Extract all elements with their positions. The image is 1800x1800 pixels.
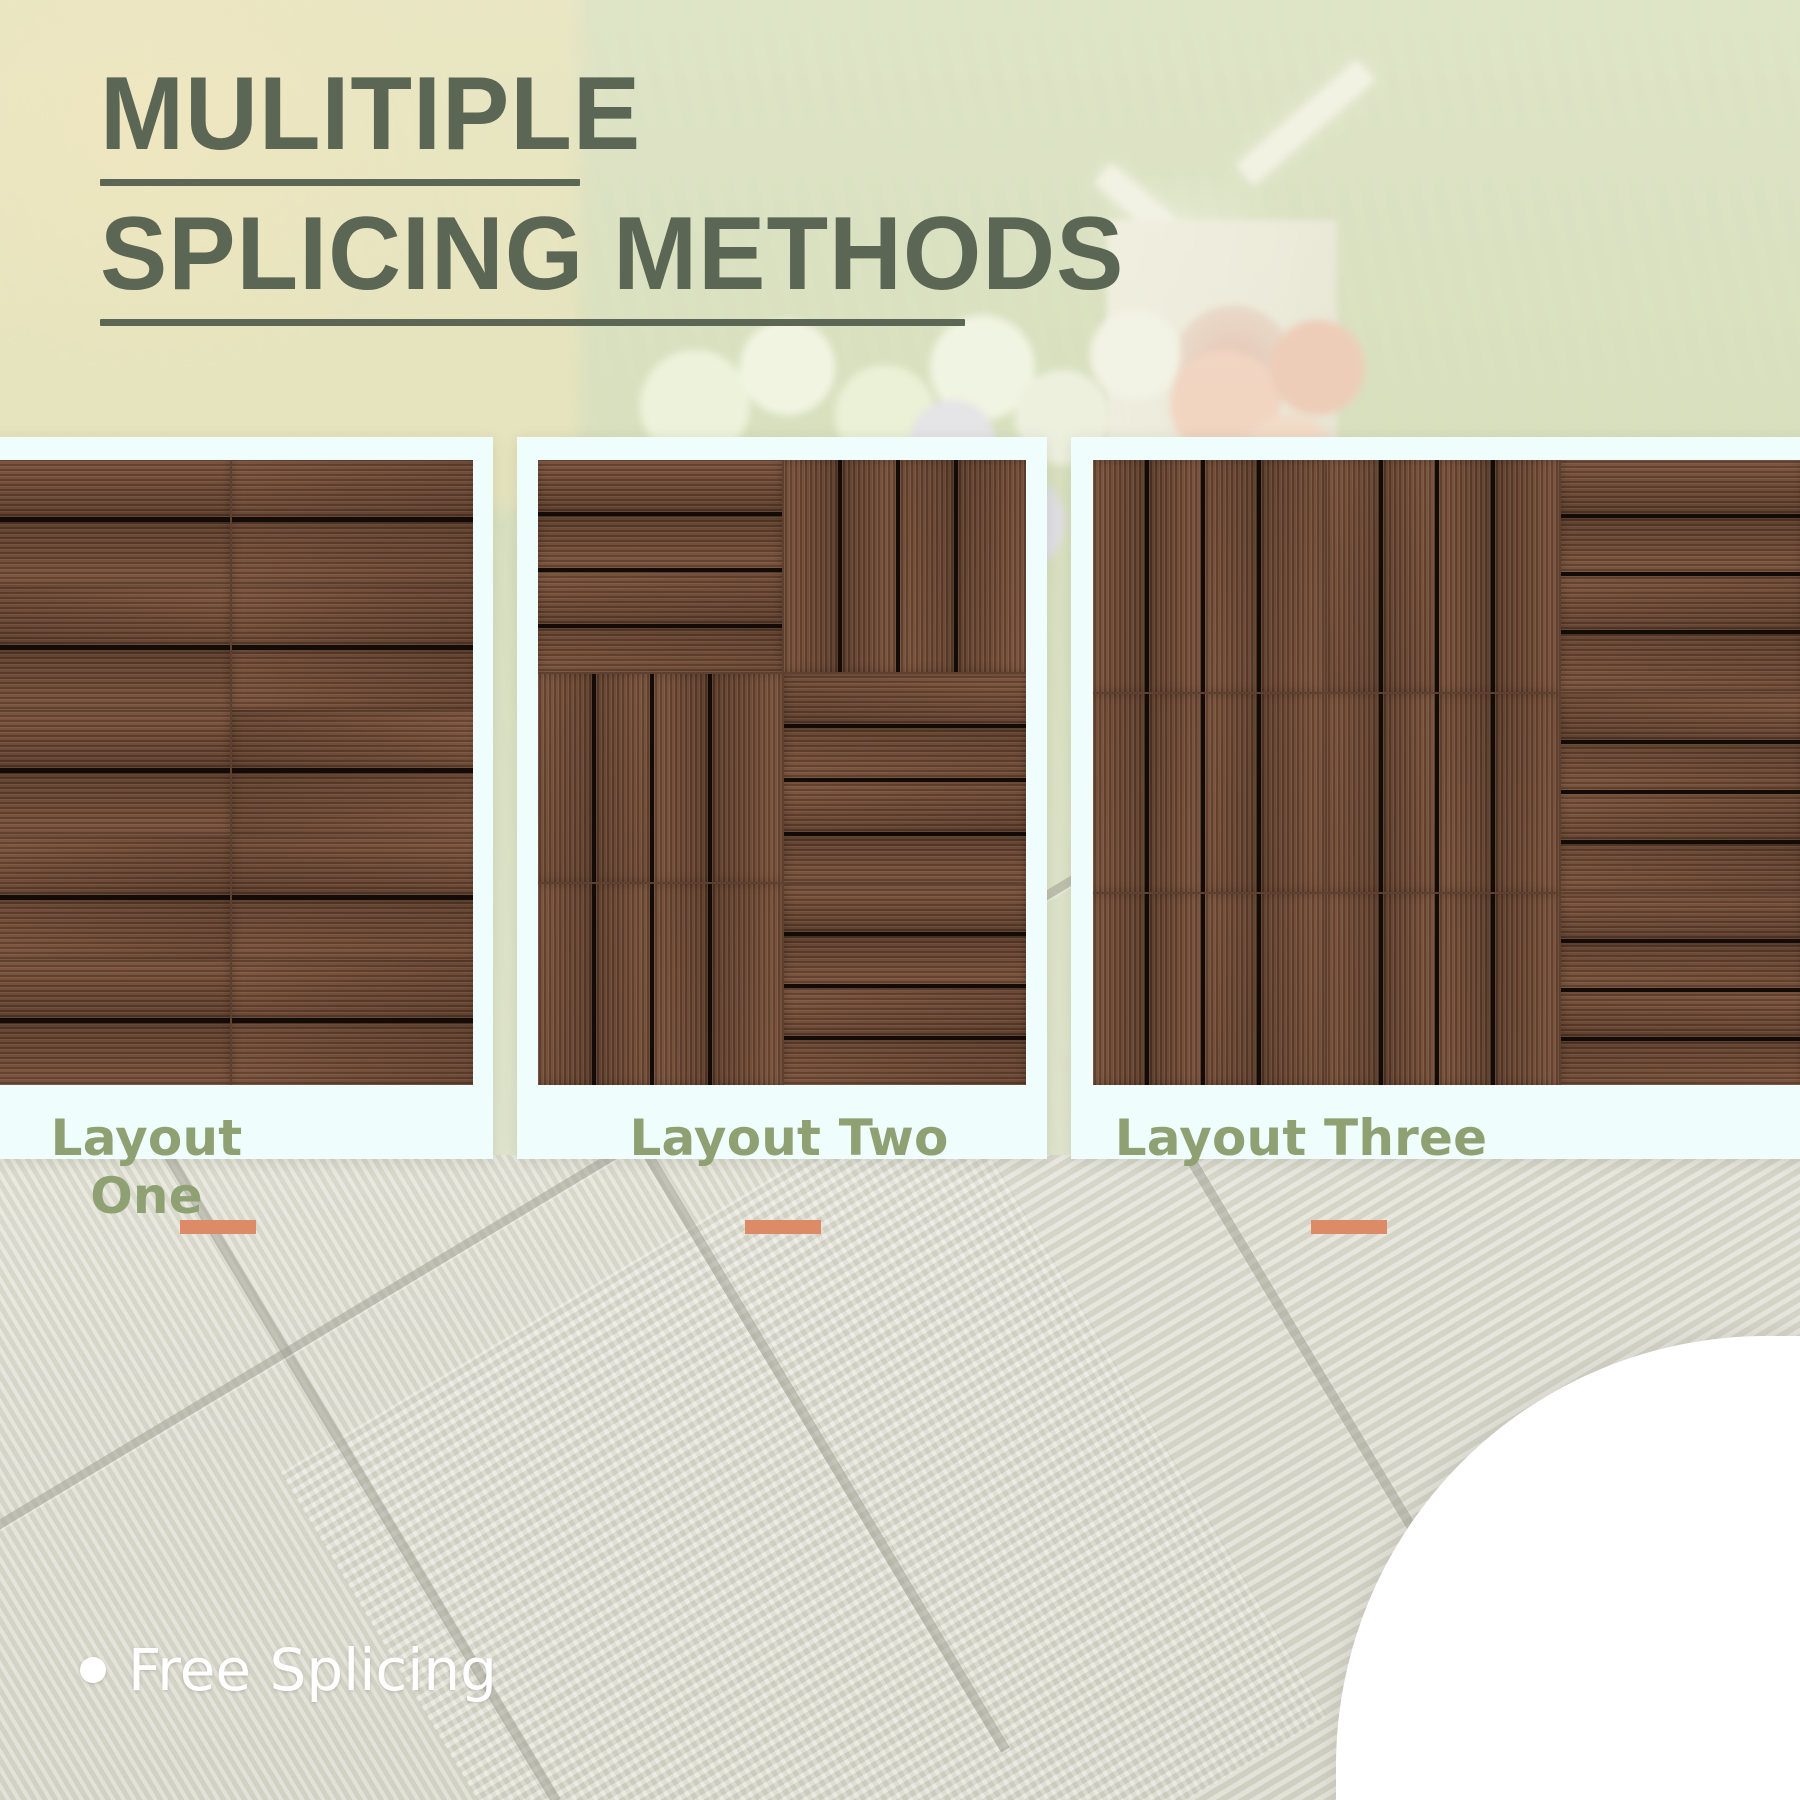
wood-tile bbox=[538, 884, 782, 1085]
wood-tile bbox=[538, 460, 782, 672]
layout-three-accent-dash bbox=[1311, 1220, 1387, 1234]
wood-tile bbox=[0, 835, 230, 960]
layout-three-label: Layout Three bbox=[1071, 1109, 1800, 1167]
wood-tile bbox=[0, 460, 230, 585]
wood-tile bbox=[0, 585, 230, 710]
headline-underline-1 bbox=[100, 179, 580, 186]
wood-tile bbox=[232, 710, 473, 835]
wood-tile bbox=[232, 460, 473, 585]
layout-two-tile-image bbox=[538, 460, 1026, 1085]
wood-tile bbox=[1327, 460, 1559, 692]
headline-underline-2 bbox=[100, 319, 965, 326]
wood-tile bbox=[232, 960, 473, 1085]
wood-tile bbox=[784, 460, 1026, 672]
feature-note-text: Free Splicing bbox=[128, 1636, 497, 1704]
layout-one-label: Layout One bbox=[0, 1109, 493, 1225]
wood-tile bbox=[784, 674, 1026, 882]
layout-card-three[interactable]: Layout Three bbox=[1071, 437, 1800, 1159]
layout-two-label: Layout Two bbox=[517, 1109, 1047, 1167]
headline-block: MULITIPLE SPLICING METHODS bbox=[100, 62, 1156, 342]
flower-blossom bbox=[1270, 320, 1365, 415]
layout-card-one[interactable]: Layout One bbox=[0, 437, 493, 1159]
wood-tile bbox=[1093, 460, 1325, 692]
wood-tile bbox=[1561, 694, 1800, 892]
layout-card-two[interactable]: Layout Two bbox=[517, 437, 1047, 1159]
layout-one-tile-image bbox=[0, 460, 473, 1085]
wood-tile bbox=[784, 884, 1026, 1085]
headline-line-2: SPLICING METHODS bbox=[100, 202, 1124, 306]
wood-tile bbox=[1327, 694, 1559, 892]
headline-line-1: MULITIPLE bbox=[100, 62, 1124, 166]
bullet-point-icon bbox=[80, 1657, 106, 1683]
layout-one-accent-dash bbox=[180, 1220, 256, 1234]
layout-two-accent-dash bbox=[745, 1220, 821, 1234]
wood-tile bbox=[232, 835, 473, 960]
wood-tile bbox=[232, 585, 473, 710]
wood-tile bbox=[0, 710, 230, 835]
feature-note: Free Splicing bbox=[80, 1636, 497, 1704]
wood-tile bbox=[538, 674, 782, 882]
wood-tile bbox=[1561, 460, 1800, 692]
wood-tile bbox=[0, 960, 230, 1085]
wood-tile bbox=[1093, 694, 1325, 892]
wood-tile bbox=[1093, 894, 1325, 1085]
product-infographic: MULITIPLE SPLICING METHODS bbox=[0, 0, 1800, 1800]
layout-card-group: Layout One bbox=[0, 437, 1800, 1159]
layout-three-tile-image bbox=[1093, 460, 1800, 1085]
wood-tile bbox=[1327, 894, 1559, 1085]
wood-tile bbox=[1561, 894, 1800, 1085]
